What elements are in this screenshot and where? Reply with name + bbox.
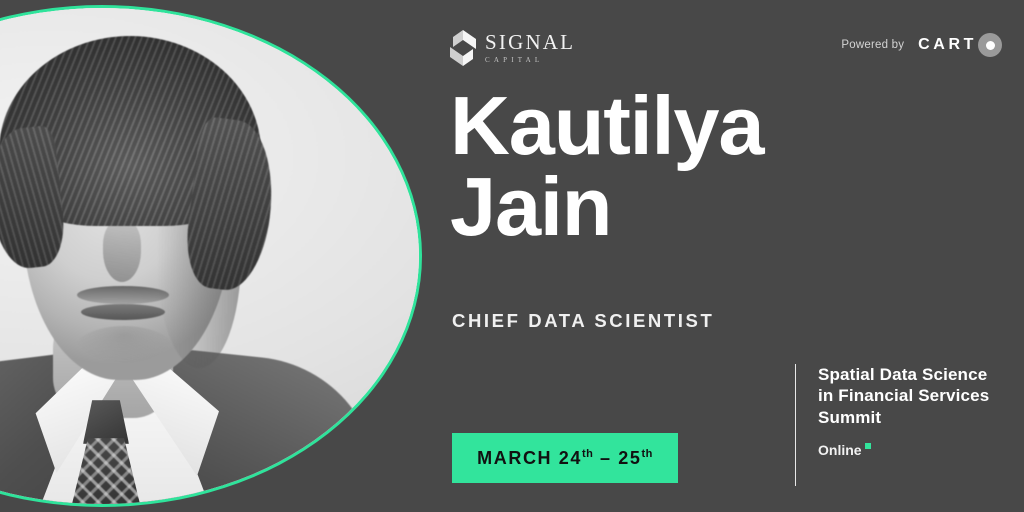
date-month: MARCH (477, 448, 559, 468)
chin (75, 326, 173, 372)
speaker-job-title: CHIEF DATA SCIENTIST (452, 310, 714, 332)
speaker-photo-circle (0, 5, 422, 507)
speaker-photo (0, 8, 419, 504)
event-date-badge: MARCH 24th – 25th (452, 433, 678, 483)
speaker-first-name: Kautilya (450, 86, 880, 167)
nose (103, 220, 141, 282)
event-mode-label: Online (818, 442, 862, 458)
signal-capital-logo: SIGNAL CAPITAL (450, 30, 575, 66)
powered-by-carto: Powered by CART (841, 33, 1002, 57)
event-title: Spatial Data Science in Financial Servic… (818, 364, 998, 428)
signal-logo-text: SIGNAL CAPITAL (485, 32, 575, 64)
signal-diamond-mark-icon (450, 30, 476, 66)
carto-circle-icon (978, 33, 1002, 57)
speaker-last-name: Jain (450, 167, 880, 248)
powered-by-label: Powered by (841, 39, 904, 51)
event-mode: Online (818, 442, 998, 458)
event-date-text: MARCH 24th – 25th (477, 448, 653, 469)
page-title: Kautilya Jain (450, 86, 880, 247)
date-day-end-suffix: th (641, 448, 652, 460)
carto-logo: CART (918, 33, 1002, 57)
mustache (77, 286, 169, 304)
signal-brand-subtitle: CAPITAL (485, 57, 575, 64)
event-info-block: Spatial Data Science in Financial Servic… (795, 364, 998, 486)
date-day-start: 24 (559, 448, 582, 468)
carto-wordmark: CART (918, 36, 977, 54)
date-separator: – (593, 448, 618, 468)
date-day-end: 25 (618, 448, 641, 468)
mouth (81, 304, 165, 320)
speaker-promo-card: SIGNAL CAPITAL Powered by CART Kautilya … (0, 0, 1024, 512)
date-day-start-suffix: th (582, 448, 593, 460)
green-square-dot-icon (865, 443, 871, 449)
signal-brand-name: SIGNAL (485, 32, 575, 53)
